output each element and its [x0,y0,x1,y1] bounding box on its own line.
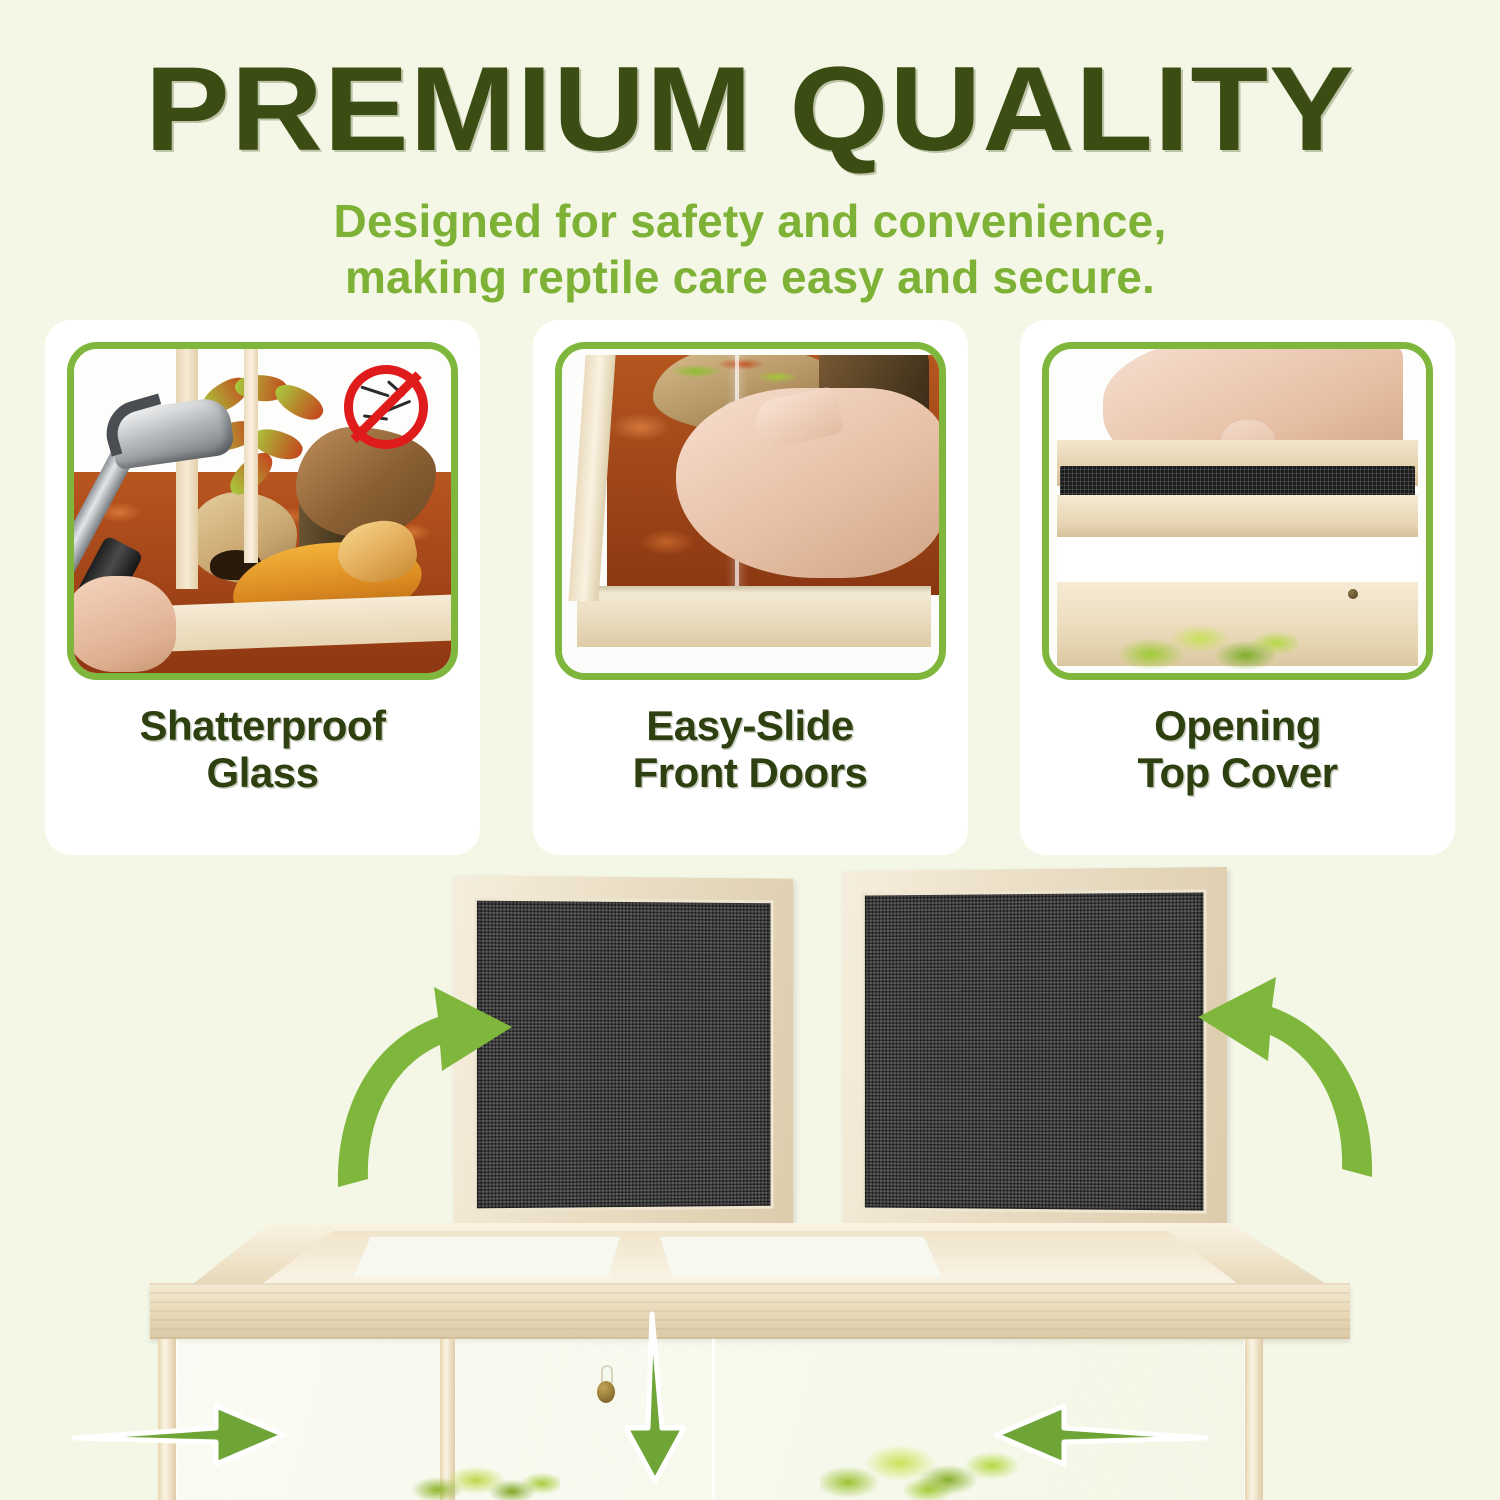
product-scene [0,865,1500,1500]
top-opening-right [660,1237,960,1277]
mesh-top-lid-left[interactable] [454,875,794,1234]
feature-label-line-1: Opening [1137,702,1337,749]
wood-grain [150,1283,1350,1339]
top-opening-left [330,1237,620,1277]
artificial-plant [410,1465,560,1500]
terrarium-wood-post [244,349,258,563]
artificial-plant [1109,617,1299,679]
terrarium-leg [1245,1339,1263,1500]
terrarium-upper-rim [150,1283,1350,1339]
page-title: PREMIUM QUALITY [0,52,1500,167]
feature-card-easy-slide-front-doors: Easy-Slide Front Doors [533,320,968,855]
terrarium-leg [158,1339,176,1500]
front-glass-doors[interactable] [176,1339,1246,1500]
feature-card-list: Shatterproof Glass Easy-Slide Front Door… [0,320,1500,865]
page-subtitle: Designed for safety and convenience, mak… [0,193,1500,305]
black-mesh-screen [1060,466,1414,498]
front-door-seam [712,1339,715,1500]
feature-label-line-2: Glass [140,749,386,796]
screw [1348,589,1358,599]
door-knob[interactable] [597,1381,615,1403]
terrarium-top-rail [1057,495,1419,537]
header: PREMIUM QUALITY Designed for safety and … [0,0,1500,305]
opening-top-cover-photo [1042,342,1433,680]
no-shatter-icon [344,365,428,449]
black-mesh-screen [862,889,1207,1213]
terrarium-wood-base [577,593,931,647]
mesh-top-lid-right[interactable] [842,867,1227,1236]
feature-card-shatterproof-glass: Shatterproof Glass [45,320,480,855]
feature-card-label: Easy-Slide Front Doors [633,702,868,796]
feature-card-opening-top-cover: Opening Top Cover [1020,320,1455,855]
feature-label-line-1: Shatterproof [140,702,386,749]
feature-label-line-1: Easy-Slide [633,702,868,749]
hand [67,576,176,672]
shatterproof-glass-photo [67,342,458,680]
artificial-plant [820,1440,1020,1500]
feature-card-label: Opening Top Cover [1137,702,1337,796]
black-mesh-screen [474,898,774,1212]
easy-slide-doors-photo [555,342,946,680]
subtitle-line-2: making reptile care easy and secure. [0,249,1500,305]
terrarium-wood-post [176,349,198,589]
subtitle-line-1: Designed for safety and convenience, [0,193,1500,249]
feature-card-label: Shatterproof Glass [140,702,386,796]
feature-label-line-2: Top Cover [1137,749,1337,796]
feature-label-line-2: Front Doors [633,749,868,796]
